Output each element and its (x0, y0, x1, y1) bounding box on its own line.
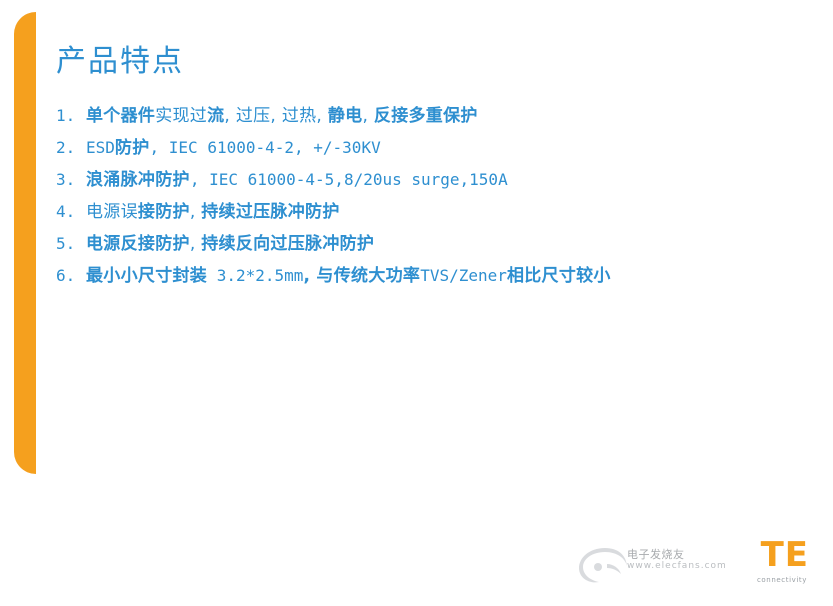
text-segment: 大功率 (368, 266, 420, 286)
text-segment: , IEC 61000-4-2, +/-30KV (150, 138, 381, 157)
text-segment: 接防护 (138, 202, 190, 222)
text-segment: ESD (86, 138, 115, 157)
text-segment: , 与传统 (303, 266, 368, 286)
list-item-number: 4. (56, 196, 86, 228)
watermark: 电子发烧友 www.elecfans.com TE connectivity (575, 536, 815, 596)
text-segment: 电源误 (86, 202, 138, 222)
list-item: 6.最小小尺寸封装 3.2*2.5mm, 与传统大功率TVS/Zener相比尺寸… (56, 260, 796, 292)
text-segment: 静电 (328, 106, 363, 126)
text-segment: 电源反接防护 (86, 234, 190, 254)
list-item: 1.单个器件实现过流, 过压, 过热, 静电, 反接多重保护 (56, 100, 796, 132)
text-segment: 流 (207, 106, 224, 126)
text-segment: , (190, 202, 201, 222)
list-item: 3.浪涌脉冲防护, IEC 61000-4-5,8/20us surge,150… (56, 164, 796, 196)
feature-list: 1.单个器件实现过流, 过压, 过热, 静电, 反接多重保护2.ESD防护, I… (56, 100, 796, 292)
text-segment: 反接多重保护 (374, 106, 478, 126)
list-item-number: 1. (56, 100, 86, 132)
text-segment: 相比尺寸较小 (507, 266, 611, 286)
text-segment: 持续反向过压脉冲防护 (201, 234, 374, 254)
text-segment: TVS/Zener (420, 266, 507, 285)
list-item: 2.ESD防护, IEC 61000-4-2, +/-30KV (56, 132, 796, 164)
list-item: 4.电源误接防护, 持续过压脉冲防护 (56, 196, 796, 228)
list-item-text: ESD防护, IEC 61000-4-2, +/-30KV (86, 132, 381, 164)
te-logo: TE (761, 538, 809, 572)
text-segment: , (190, 234, 201, 254)
te-tagline: connectivity (757, 576, 807, 584)
list-item-number: 3. (56, 164, 86, 196)
list-item-text: 电源反接防护, 持续反向过压脉冲防护 (86, 228, 374, 260)
list-item-number: 5. (56, 228, 86, 260)
text-segment: , IEC 61000-4-5,8/20us surge,150A (190, 170, 508, 189)
list-item-number: 6. (56, 260, 86, 292)
list-item-text: 最小小尺寸封装 3.2*2.5mm, 与传统大功率TVS/Zener相比尺寸较小 (86, 260, 611, 292)
text-segment: 最小小尺寸封装 (86, 266, 207, 286)
text-segment: , 过压, 过热, (224, 106, 327, 126)
text-segment: 3.2*2.5mm (207, 266, 303, 285)
text-segment: 防护 (115, 138, 150, 158)
list-item-text: 电源误接防护, 持续过压脉冲防护 (86, 196, 340, 228)
text-segment: 实现过 (155, 106, 207, 126)
text-segment: 单个器件 (86, 106, 155, 126)
list-item: 5.电源反接防护, 持续反向过压脉冲防护 (56, 228, 796, 260)
list-item-text: 浪涌脉冲防护, IEC 61000-4-5,8/20us surge,150A (86, 164, 508, 196)
text-segment: 持续过压脉冲防护 (201, 202, 339, 222)
text-segment: 浪涌脉冲防护 (86, 170, 190, 190)
list-item-number: 2. (56, 132, 86, 164)
text-segment: , (362, 106, 373, 126)
page-title: 产品特点 (56, 36, 184, 80)
slide-canvas: 产品特点 1.单个器件实现过流, 过压, 过热, 静电, 反接多重保护2.ESD… (0, 0, 833, 606)
watermark-url: www.elecfans.com (627, 561, 727, 571)
list-item-text: 单个器件实现过流, 过压, 过热, 静电, 反接多重保护 (86, 100, 478, 132)
swirl-icon (575, 542, 631, 588)
accent-bar-mask (36, 12, 56, 474)
watermark-site-name: 电子发烧友 (627, 546, 685, 562)
